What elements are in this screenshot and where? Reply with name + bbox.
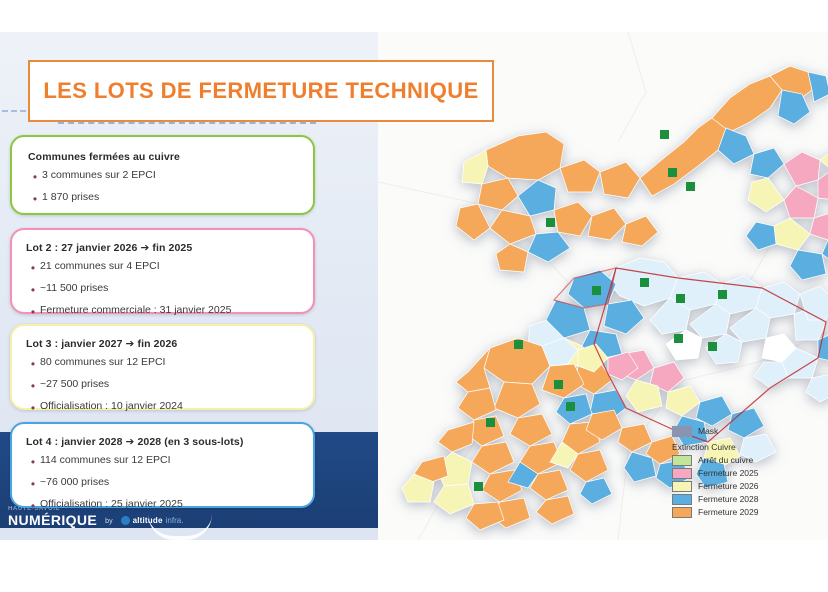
legend-label: Fermeture 2025 [698, 468, 758, 479]
bullet-item: •~27 500 prises [26, 379, 299, 392]
legend-swatch [672, 507, 692, 518]
bullet-text: ~11 500 prises [40, 283, 108, 295]
bullet-marker: • [26, 499, 40, 512]
legend-swatch-mask [672, 426, 692, 437]
map-legend: Mask Extinction Cuivre Arrêt du cuivreFe… [672, 426, 822, 520]
bullet-text: ~27 500 prises [40, 379, 109, 391]
bullet-marker: • [26, 455, 40, 468]
bullet-item: •Officialisation : 10 janvier 2024 [26, 401, 299, 414]
bullet-text: Fermeture commerciale : 31 janvier 2025 [40, 305, 231, 317]
bullet-item: •21 communes sur 4 EPCI [26, 261, 299, 274]
legend-row-mask: Mask [672, 426, 822, 437]
page-title: LES LOTS DE FERMETURE TECHNIQUE [43, 79, 478, 103]
bullet-marker: • [26, 401, 40, 414]
bullet-text: 1 870 prises [42, 192, 99, 204]
card-title: Lot 3 : janvier 2027 ➔ fin 2026 [26, 338, 299, 350]
legend-row-3: Fermeture 2028 [672, 494, 822, 505]
card-bullet-list: •21 communes sur 4 EPCI•~11 500 prises•F… [26, 261, 299, 318]
bullet-item: •~76 000 prises [26, 477, 299, 490]
bullet-marker: • [26, 261, 40, 274]
legend-row-4: Fermeture 2029 [672, 507, 822, 518]
altitude-icon [121, 516, 130, 525]
bullet-marker: • [28, 192, 42, 205]
card-bullet-list: •80 communes sur 12 EPCI•~27 500 prises•… [26, 357, 299, 414]
bullet-text: 114 communes sur 12 EPCI [40, 455, 171, 467]
legend-row-0: Arrêt du cuivre [672, 455, 822, 466]
legend-label: Fermeture 2028 [698, 494, 758, 505]
partner-suffix: infra. [166, 516, 184, 525]
bullet-text: Officialisation : 10 janvier 2024 [40, 401, 183, 413]
card-bullet-list: •114 communes sur 12 EPCI•~76 000 prises… [26, 455, 299, 512]
bullet-marker: • [26, 357, 40, 370]
bullet-text: Officialisation : 25 janvier 2025 [40, 499, 183, 511]
bullet-text: 80 communes sur 12 EPCI [40, 357, 165, 369]
legend-item-list: Arrêt du cuivreFermeture 2025Fermeture 2… [672, 455, 822, 518]
legend-label: Arrêt du cuivre [698, 455, 753, 466]
legend-label-mask: Mask [698, 426, 718, 437]
bullet-item: •Fermeture commerciale : 31 janvier 2025 [26, 305, 299, 318]
bullet-marker: • [26, 283, 40, 296]
bullet-item: •114 communes sur 12 EPCI [26, 455, 299, 468]
bullet-item: •~11 500 prises [26, 283, 299, 296]
legend-row-1: Fermeture 2025 [672, 468, 822, 479]
slide: HAUTE-SAVOIE NUMÉRIQUE by altitude infra… [0, 0, 828, 592]
bullet-marker: • [26, 305, 40, 318]
dashed-decoration-left [2, 110, 26, 112]
bullet-text: 3 communes sur 2 EPCI [42, 170, 156, 182]
card-lot-3[interactable]: Lot 3 : janvier 2027 ➔ fin 2026 •80 comm… [10, 324, 315, 410]
legend-heading: Extinction Cuivre [672, 442, 822, 452]
partner-name: altitude [133, 516, 163, 525]
legend-swatch [672, 455, 692, 466]
legend-swatch [672, 494, 692, 505]
card-title: Communes fermées au cuivre [28, 151, 299, 163]
logo-main-text: NUMÉRIQUE [8, 513, 97, 527]
logo-by-text: by [105, 518, 112, 525]
bullet-item: •80 communes sur 12 EPCI [26, 357, 299, 370]
bullet-item: •3 communes sur 2 EPCI [28, 170, 299, 183]
card-title: Lot 4 : janvier 2028 ➔ 2028 (en 3 sous-l… [26, 436, 299, 448]
card-lot-2[interactable]: Lot 2 : 27 janvier 2026 ➔ fin 2025 •21 c… [10, 228, 315, 314]
bullet-marker: • [26, 379, 40, 392]
slide-title-box: LES LOTS DE FERMETURE TECHNIQUE [28, 60, 494, 122]
bullet-text: 21 communes sur 4 EPCI [40, 261, 160, 273]
legend-label: Fermeture 2029 [698, 507, 758, 518]
card-bullet-list: •3 communes sur 2 EPCI•1 870 prises [28, 170, 299, 205]
card-title: Lot 2 : 27 janvier 2026 ➔ fin 2025 [26, 242, 299, 254]
bullet-marker: • [26, 477, 40, 490]
dashed-decoration-main [58, 122, 316, 124]
bullet-item: •Officialisation : 25 janvier 2025 [26, 499, 299, 512]
bullet-text: ~76 000 prises [40, 477, 109, 489]
bullet-marker: • [28, 170, 42, 183]
bullet-item: •1 870 prises [28, 192, 299, 205]
legend-swatch [672, 468, 692, 479]
card-communes-fermees[interactable]: Communes fermées au cuivre •3 communes s… [10, 135, 315, 215]
legend-label: Fermeture 2026 [698, 481, 758, 492]
slide-body: HAUTE-SAVOIE NUMÉRIQUE by altitude infra… [0, 32, 828, 540]
card-lot-4[interactable]: Lot 4 : janvier 2028 ➔ 2028 (en 3 sous-l… [10, 422, 315, 508]
legend-row-2: Fermeture 2026 [672, 481, 822, 492]
legend-swatch [672, 481, 692, 492]
